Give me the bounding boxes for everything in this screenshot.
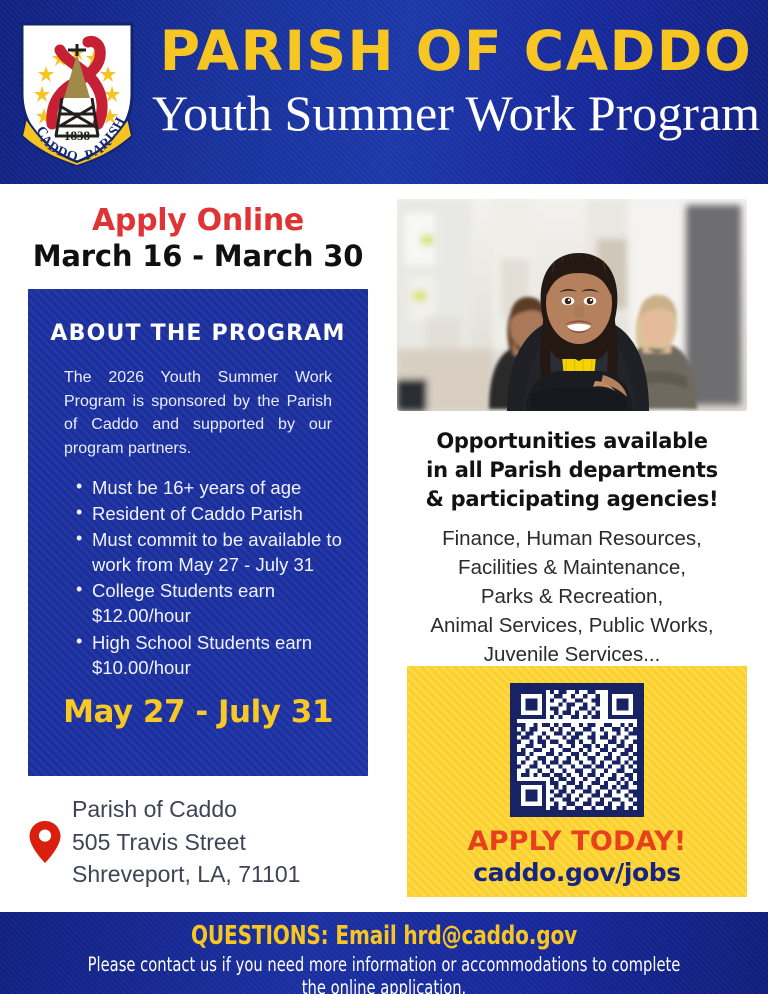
about-the-program-box: ABOUT THE PROGRAM The 2026 Youth Summer … xyxy=(28,289,368,776)
page-title: PARISH OF CADDO xyxy=(150,22,762,81)
office-photo xyxy=(397,199,747,411)
apply-qr-panel[interactable]: APPLY TODAY! caddo.gov/jobs xyxy=(407,666,747,897)
list-item: Must be 16+ years of age xyxy=(76,475,350,500)
requirements-list: Must be 16+ years of age Resident of Cad… xyxy=(46,475,350,680)
caddo-parish-crest-icon: 1838 C A D D O P A R I S H xyxy=(16,20,138,166)
departments-line-4: Animal Services, Public Works, xyxy=(386,611,758,640)
footer-bar: QUESTIONS: Email hrd@caddo.gov Please co… xyxy=(0,912,768,994)
list-item: Must commit to be available to work from… xyxy=(76,527,350,577)
qr-code-icon[interactable] xyxy=(510,683,644,817)
about-title: ABOUT THE PROGRAM xyxy=(46,321,350,346)
departments-line-3: Parks & Recreation, xyxy=(386,582,758,611)
apply-online-headline: Apply Online xyxy=(28,203,368,238)
footer-note: Please contact us if you need more infor… xyxy=(61,953,706,994)
footer-note-line-1: Please contact us if you need more infor… xyxy=(61,953,706,976)
list-item: High School Students earn $10.00/hour xyxy=(76,630,350,680)
flyer-page: 1838 C A D D O P A R I S H xyxy=(0,0,768,994)
apply-url[interactable]: caddo.gov/jobs xyxy=(473,858,681,887)
apply-dates: March 16 - March 30 xyxy=(20,239,376,273)
departments-list: Finance, Human Resources, Facilities & M… xyxy=(386,524,758,670)
opportunities-headline-line-1: Opportunities available xyxy=(392,427,752,456)
crest-year: 1838 xyxy=(64,128,91,143)
opportunities-headline-line-2: in all Parish departments xyxy=(392,456,752,485)
address-line-2: 505 Travis Street xyxy=(72,826,300,859)
departments-line-2: Facilities & Maintenance, xyxy=(386,553,758,582)
address-line-3: Shreveport, LA, 71101 xyxy=(72,858,300,891)
apply-today-cta[interactable]: APPLY TODAY! xyxy=(468,826,687,857)
opportunities-headline: Opportunities available in all Parish de… xyxy=(392,427,752,514)
footer-note-line-2: the online application. xyxy=(61,976,706,994)
address-block: Parish of Caddo 505 Travis Street Shreve… xyxy=(28,793,372,891)
program-date-banner: May 27 - July 31 xyxy=(46,694,350,730)
header-banner: 1838 C A D D O P A R I S H xyxy=(0,0,768,184)
header-text-group: PARISH OF CADDO Youth Summer Work Progra… xyxy=(150,22,762,141)
list-item: Resident of Caddo Parish xyxy=(76,501,350,526)
list-item: College Students earn $12.00/hour xyxy=(76,578,350,628)
address-line-1: Parish of Caddo xyxy=(72,793,300,826)
departments-line-1: Finance, Human Resources, xyxy=(386,524,758,553)
location-pin-icon xyxy=(28,819,62,865)
about-body-text: The 2026 Youth Summer Work Program is sp… xyxy=(46,366,350,461)
page-subtitle: Youth Summer Work Program xyxy=(150,85,762,141)
address-lines: Parish of Caddo 505 Travis Street Shreve… xyxy=(72,793,300,891)
opportunities-headline-line-3: & participating agencies! xyxy=(392,485,752,514)
footer-questions-email[interactable]: QUESTIONS: Email hrd@caddo.gov xyxy=(54,921,714,951)
